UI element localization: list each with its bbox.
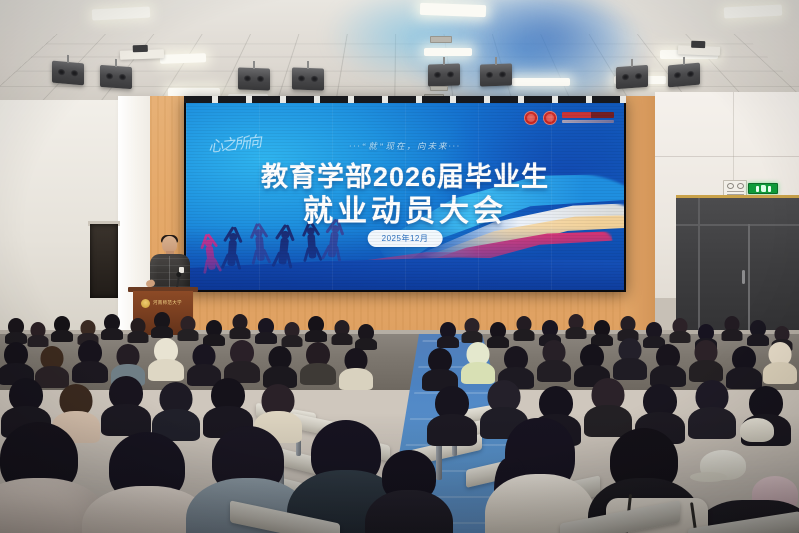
audience-member-foreground	[492, 418, 588, 533]
audience-member	[500, 346, 532, 384]
audience-member	[462, 318, 482, 340]
audience-member	[128, 318, 148, 340]
audience-member	[150, 338, 182, 376]
audience-member	[332, 320, 352, 342]
audience-member	[178, 316, 198, 338]
logo-wordmark	[562, 112, 614, 123]
audience-member	[306, 316, 326, 338]
audience-member	[618, 316, 638, 338]
emergency-exit-sign	[748, 183, 778, 194]
audience-member	[540, 320, 560, 342]
audience-member	[424, 348, 456, 386]
screen-date-badge: 2025年12月	[368, 230, 443, 247]
audience-member	[514, 316, 534, 338]
ceiling-mounted-plate	[120, 49, 164, 60]
university-seal-emblem-icon	[524, 111, 538, 125]
ceiling-light-panel	[424, 48, 472, 56]
stage-light-fixture	[616, 65, 648, 89]
audience-member	[78, 320, 98, 342]
faculty-logo-emblem-icon	[543, 111, 557, 125]
stage-light-fixture	[238, 67, 270, 90]
stage-led-screen: 心之所向 ···“就”现在，向未来··· 教育学部2026届毕业生 就业动员大会…	[184, 96, 626, 292]
screen-top-mount-strip	[184, 96, 626, 103]
audience-member	[748, 320, 768, 342]
audience-member	[728, 346, 760, 384]
audience-member	[6, 318, 26, 340]
audience-member	[670, 318, 690, 340]
audience-member	[430, 386, 474, 440]
audience-member	[614, 338, 646, 376]
audience-member	[438, 322, 458, 344]
wall-alcove-recess	[90, 224, 118, 298]
stage-light-fixture	[100, 65, 132, 89]
audience-member	[206, 378, 250, 432]
audience-member	[592, 320, 612, 342]
audience-member-foreground	[372, 450, 446, 533]
audience-member	[28, 322, 48, 344]
ceiling-mounted-plate	[678, 45, 720, 55]
audience-member	[226, 340, 258, 378]
audience-member	[256, 318, 276, 340]
audience-member	[52, 316, 72, 338]
ceiling-light-panel	[160, 53, 206, 64]
audience-member-foreground	[0, 422, 94, 533]
wall-notice-placard	[723, 180, 747, 196]
audience-member	[722, 316, 742, 338]
ceiling-vent	[430, 36, 452, 43]
audience-member	[488, 322, 508, 344]
door-handle[interactable]	[742, 270, 745, 284]
audience-member	[356, 324, 376, 346]
baseball-cap	[700, 450, 746, 480]
audience-member	[204, 320, 224, 342]
stage-light-fixture	[668, 63, 700, 88]
audience-member	[652, 344, 684, 382]
audience-member	[74, 340, 106, 378]
stage-light-fixture	[52, 61, 84, 86]
ceiling-light-panel	[512, 78, 570, 86]
audience-member	[152, 312, 172, 334]
stage-light-fixture	[428, 63, 460, 86]
stage-light-fixture	[480, 63, 512, 86]
audience-member	[764, 342, 796, 380]
audience-member	[188, 344, 220, 382]
audience-member	[282, 322, 302, 344]
auditorium-screenshot: 心之所向 ···“就”现在，向未来··· 教育学部2026届毕业生 就业动员大会…	[0, 0, 799, 533]
audience-member	[462, 342, 494, 380]
audience-member	[690, 340, 722, 378]
audience-member	[264, 346, 296, 384]
audience-member	[102, 314, 122, 336]
audience-member	[566, 314, 586, 336]
audience-member	[576, 344, 608, 382]
audience-member	[644, 322, 664, 344]
ceiling-light-panel	[92, 6, 150, 20]
led-screen-display: 心之所向 ···“就”现在，向未来··· 教育学部2026届毕业生 就业动员大会…	[186, 103, 624, 290]
stage-light-fixture	[292, 67, 324, 90]
ceiling-light-panel	[420, 3, 486, 17]
seated-student-audience	[0, 300, 799, 533]
audience-member	[340, 348, 372, 386]
knit-beanie	[740, 418, 774, 442]
audience-member	[538, 340, 570, 378]
audience-member	[230, 314, 250, 336]
audience-member	[302, 342, 334, 380]
ceiling-vent	[430, 86, 448, 91]
screen-tagline: ···“就”现在，向未来···	[186, 140, 624, 152]
audience-member	[586, 378, 630, 432]
screen-logo-group	[524, 110, 614, 125]
audience-member	[104, 376, 148, 430]
presenter-at-podium	[148, 236, 192, 294]
audience-member	[690, 380, 734, 434]
ceiling-light-panel	[724, 4, 782, 18]
audience-member	[154, 382, 198, 436]
screen-title-line-2: 就业动员大会	[186, 186, 624, 230]
audience-member	[0, 342, 32, 380]
